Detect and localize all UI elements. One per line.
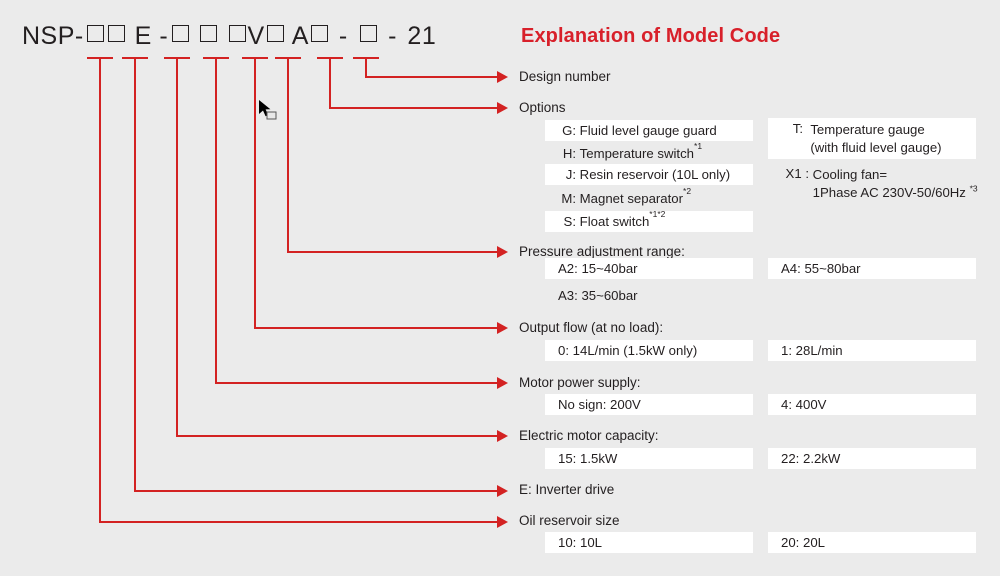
label-oil-reservoir-size: Oil reservoir size	[519, 513, 620, 529]
option-text: Temperature switch	[580, 146, 694, 161]
code-box	[267, 25, 284, 42]
option-row: X1 : Cooling fan=1Phase AC 230V-50/60Hz …	[768, 163, 976, 204]
option-key: G:	[558, 123, 576, 138]
footnote-marker: *3	[970, 184, 978, 194]
option-key: S:	[558, 214, 576, 229]
option-text: Fluid level gauge guard	[580, 123, 717, 138]
label-motor-power-supply: Motor power supply:	[519, 375, 641, 391]
code-box	[87, 25, 104, 42]
label-options: Options	[519, 100, 566, 116]
label-electric-motor-capacity: Electric motor capacity:	[519, 428, 659, 444]
option-row: J: Resin reservoir (10L only)	[545, 164, 753, 185]
model-code-string: NSP- E - V A - - 21	[22, 22, 436, 51]
option-text-line1: Cooling fan=	[813, 166, 978, 184]
mouse-cursor	[258, 99, 278, 123]
code-box	[200, 25, 217, 42]
code-box	[108, 25, 125, 42]
option-key: T:	[781, 121, 803, 157]
model-code-diagram: NSP- E - V A - - 21 Explanation of Model…	[0, 0, 1000, 576]
page-title: Explanation of Model Code	[521, 25, 780, 48]
option-row: H: Temperature switch *1	[545, 143, 753, 164]
value-box: No sign: 200V	[545, 394, 753, 415]
code-box	[229, 25, 246, 42]
option-text: Magnet separator	[580, 191, 683, 206]
option-row: S: Float switch *1*2	[545, 211, 753, 232]
value-box: A3: 35~60bar	[545, 285, 753, 306]
value-box: 15: 1.5kW	[545, 448, 753, 469]
value-box: A4: 55~80bar	[768, 258, 976, 279]
option-row: M: Magnet separator *2	[545, 188, 753, 209]
value-box: 20: 20L	[768, 532, 976, 553]
label-inverter-drive: E: Inverter drive	[519, 482, 614, 498]
option-text-line1: Temperature gauge	[810, 121, 941, 139]
option-text: Resin reservoir (10L only)	[580, 167, 731, 182]
value-box: 4: 400V	[768, 394, 976, 415]
option-text-line2: (with fluid level gauge)	[810, 139, 941, 157]
value-box: 0: 14L/min (1.5kW only)	[545, 340, 753, 361]
value-box: 10: 10L	[545, 532, 753, 553]
option-key: H:	[558, 146, 576, 161]
code-box	[172, 25, 189, 42]
option-key: J:	[558, 167, 576, 182]
option-row: G: Fluid level gauge guard	[545, 120, 753, 141]
code-box	[311, 25, 328, 42]
label-output-flow: Output flow (at no load):	[519, 320, 663, 336]
footnote-marker: *1*2	[649, 214, 665, 229]
option-key: X1 :	[781, 166, 809, 202]
label-design-number: Design number	[519, 69, 611, 85]
option-key: M:	[558, 191, 576, 206]
value-box: 1: 28L/min	[768, 340, 976, 361]
footnote-marker: *1	[694, 146, 702, 161]
value-box: A2: 15~40bar	[545, 258, 753, 279]
footnote-marker: *2	[683, 191, 691, 206]
value-box: 22: 2.2kW	[768, 448, 976, 469]
option-row: T: Temperature gauge(with fluid level ga…	[768, 118, 976, 159]
option-text: Float switch	[580, 214, 650, 229]
code-box	[360, 25, 377, 42]
option-text-line2: 1Phase AC 230V-50/60Hz	[813, 185, 970, 200]
